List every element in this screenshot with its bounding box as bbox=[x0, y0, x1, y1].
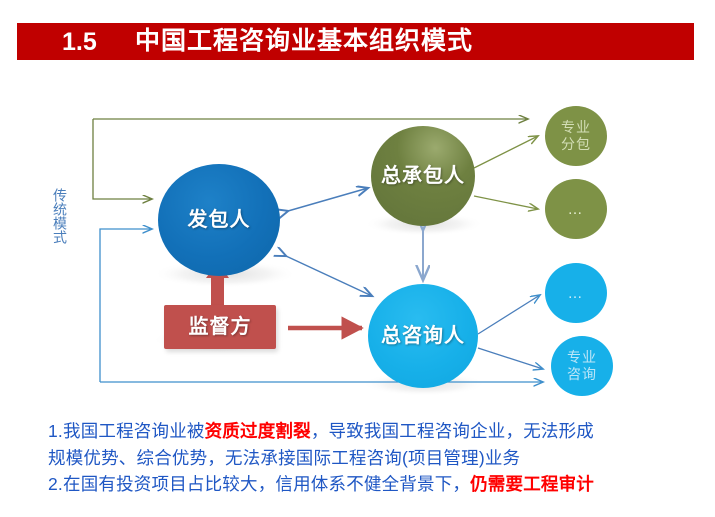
node-green-more-label: … bbox=[568, 201, 585, 218]
connector-zongchengbaoren-green-more bbox=[474, 196, 538, 209]
connector-zongzixunren-cyan-more bbox=[478, 295, 540, 334]
label-traditional-model: 传统模式 bbox=[50, 188, 70, 244]
node-zhuanye-zixun-line1: 专业 bbox=[567, 349, 597, 365]
node-zongchengbaoren-label: 总承包人 bbox=[381, 165, 465, 187]
connector-green-route-to-fabaoren bbox=[93, 119, 152, 199]
title-banner: 1.5 中国工程咨询业基本组织模式 bbox=[17, 23, 694, 60]
note-line-1-part-a: 1.我国工程咨询业被 bbox=[48, 421, 205, 441]
connector-blue-route-to-fabaoren bbox=[100, 229, 152, 382]
node-zhuanye-fenbao-line2: 分包 bbox=[561, 136, 591, 152]
organization-model-diagram: 传统模式 发包人 总承包人 总咨询人 监督方 专业 分包 … … 专业 咨询 bbox=[0, 78, 715, 408]
node-cyan-more-label: … bbox=[568, 285, 585, 302]
connector-zongzixunren-zhuanyezixun bbox=[478, 348, 543, 369]
connector-zongchengbaoren-zhuanyefenbao bbox=[474, 136, 538, 168]
note-line-1-emphasis: 资质过度割裂 bbox=[205, 421, 311, 441]
node-green-more[interactable]: … bbox=[545, 179, 607, 239]
node-zhuanye-fenbao-label: 专业 分包 bbox=[561, 119, 591, 153]
note-line-3: 2.在国有投资项目占比较大，信用体系不健全背景下，仍需要工程审计 bbox=[48, 471, 708, 498]
node-zhuanye-zixun[interactable]: 专业 咨询 bbox=[551, 336, 613, 396]
node-zongchengbaoren[interactable]: 总承包人 bbox=[371, 126, 475, 226]
page-title: 中国工程咨询业基本组织模式 bbox=[135, 26, 473, 57]
note-line-3-emphasis: 仍需要工程审计 bbox=[470, 474, 594, 494]
node-jiandufang[interactable]: 监督方 bbox=[164, 305, 276, 349]
node-zongzixunren[interactable]: 总咨询人 bbox=[368, 284, 478, 388]
node-zhuanye-zixun-label: 专业 咨询 bbox=[567, 349, 597, 383]
node-jiandufang-label: 监督方 bbox=[189, 316, 252, 338]
connector-fabaoren-zongchengbaoren bbox=[288, 188, 368, 211]
node-zhuanye-fenbao-line1: 专业 bbox=[561, 119, 591, 135]
note-line-1: 1.我国工程咨询业被资质过度割裂，导致我国工程咨询企业，无法形成 bbox=[48, 418, 708, 445]
title-number: 1.5 bbox=[62, 27, 97, 57]
note-line-3-part-a: 2.在国有投资项目占比较大，信用体系不健全背景下， bbox=[48, 474, 470, 494]
note-line-2: 规模优势、综合优势，无法承接国际工程咨询(项目管理)业务 bbox=[48, 445, 708, 472]
node-zhuanye-fenbao[interactable]: 专业 分包 bbox=[545, 106, 607, 166]
node-fabaoren[interactable]: 发包人 bbox=[158, 164, 280, 276]
node-fabaoren-label: 发包人 bbox=[188, 209, 251, 231]
node-zongzixunren-label: 总咨询人 bbox=[381, 325, 465, 347]
connector-fabaoren-zongzixunren bbox=[286, 256, 372, 296]
note-line-1-part-b: ，导致我国工程咨询企业，无法形成 bbox=[311, 421, 594, 441]
notes-block: 1.我国工程咨询业被资质过度割裂，导致我国工程咨询企业，无法形成 规模优势、综合… bbox=[48, 418, 708, 498]
node-cyan-more[interactable]: … bbox=[545, 263, 607, 323]
node-zhuanye-zixun-line2: 咨询 bbox=[567, 366, 597, 382]
